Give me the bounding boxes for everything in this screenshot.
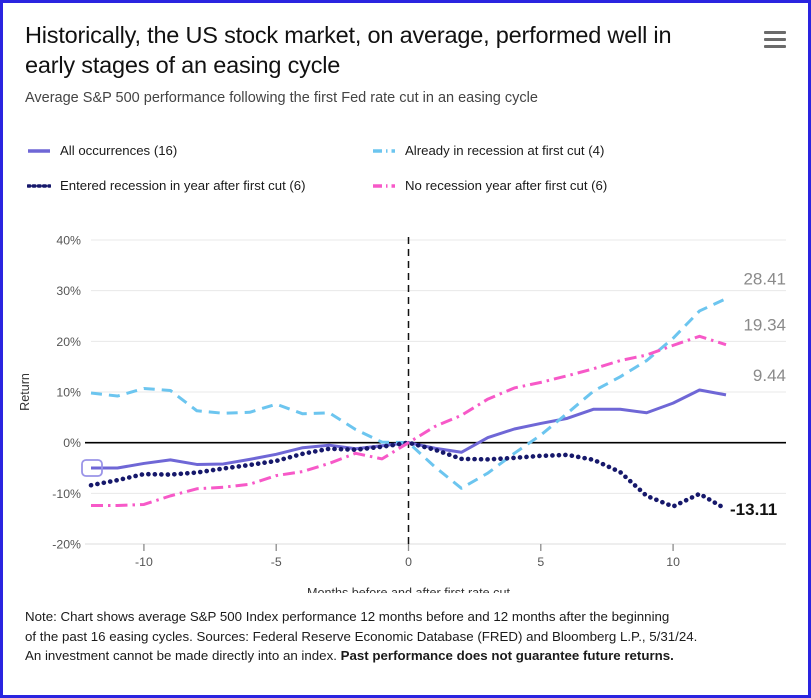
y-tick-label: -20% [52, 538, 81, 552]
x-tick-label: 10 [666, 555, 680, 569]
legend-item-entered-recession[interactable]: Entered recession in year after first cu… [27, 178, 372, 193]
y-tick-label: 40% [56, 234, 81, 248]
legend-item-no-recession[interactable]: No recession year after first cut (6) [372, 178, 757, 193]
x-tick-label: -5 [271, 555, 282, 569]
y-tick-label: -10% [52, 487, 81, 501]
end-label-0: 9.44 [753, 366, 786, 385]
legend-swatch-solid-icon [27, 144, 51, 158]
line-chart-svg: 40%30%20%10%0%-10%-20% -10-50510 9.4428.… [3, 221, 808, 593]
end-label-2: -13.11 [730, 500, 777, 519]
x-tick-label: -10 [135, 555, 153, 569]
page-subtitle: Average S&P 500 performance following th… [25, 90, 725, 106]
footnote-divider [13, 601, 798, 602]
legend-label-already-in-recession: Already in recession at first cut (4) [405, 143, 604, 158]
y-tick-label: 30% [56, 284, 81, 298]
x-tick-label: 5 [537, 555, 544, 569]
menu-bar-1 [764, 31, 786, 34]
end-label-3: 19.34 [743, 316, 786, 335]
y-axis-title: Return [18, 373, 32, 411]
y-axis-tick-labels: 40%30%20%10%0%-10%-20% [52, 234, 81, 552]
x-axis-tick-labels: -10-50510 [135, 555, 680, 569]
legend-swatch-dashed-icon [372, 144, 396, 158]
chart-legend: All occurrences (16) Already in recessio… [27, 143, 757, 193]
y-tick-label: 10% [56, 386, 81, 400]
legend-item-already-in-recession[interactable]: Already in recession at first cut (4) [372, 143, 757, 158]
legend-label-all-occurrences: All occurrences (16) [60, 143, 177, 158]
footnote-line-2: of the past 16 easing cycles. Sources: F… [25, 627, 785, 647]
chart-plot-area: 40%30%20%10%0%-10%-20% -10-50510 9.4428.… [3, 221, 808, 593]
footnote-line-1: Note: Chart shows average S&P 500 Index … [25, 607, 785, 627]
legend-label-entered-recession: Entered recession in year after first cu… [60, 178, 306, 193]
y-tick-label: 0% [63, 436, 81, 450]
page-title: Historically, the US stock market, on av… [25, 21, 685, 80]
legend-swatch-dotted-icon [27, 179, 51, 193]
footnote-line-3: An investment cannot be made directly in… [25, 646, 785, 666]
x-axis-title: Months before and after first rate cut [307, 586, 511, 593]
gridlines [91, 240, 786, 544]
legend-swatch-dashdot-icon [372, 179, 396, 193]
x-axis [85, 544, 786, 551]
legend-item-all-occurrences[interactable]: All occurrences (16) [27, 143, 372, 158]
header-block: Historically, the US stock market, on av… [25, 21, 725, 106]
menu-bar-2 [764, 38, 786, 41]
series-line-2 [91, 443, 726, 509]
y-tick-label: 20% [56, 335, 81, 349]
footnote-disclaimer-bold: Past performance does not guarantee futu… [341, 648, 674, 663]
menu-bar-3 [764, 45, 786, 48]
footnote-line-3-plain: An investment cannot be made directly in… [25, 648, 341, 663]
hamburger-menu-icon[interactable] [764, 31, 786, 49]
series-end-labels: 9.4428.41-13.1119.34 [730, 270, 786, 519]
end-label-1: 28.41 [743, 270, 786, 289]
x-tick-label: 0 [405, 555, 412, 569]
footnote-block: Note: Chart shows average S&P 500 Index … [25, 607, 785, 666]
legend-label-no-recession: No recession year after first cut (6) [405, 178, 607, 193]
chart-card: Historically, the US stock market, on av… [0, 0, 811, 698]
